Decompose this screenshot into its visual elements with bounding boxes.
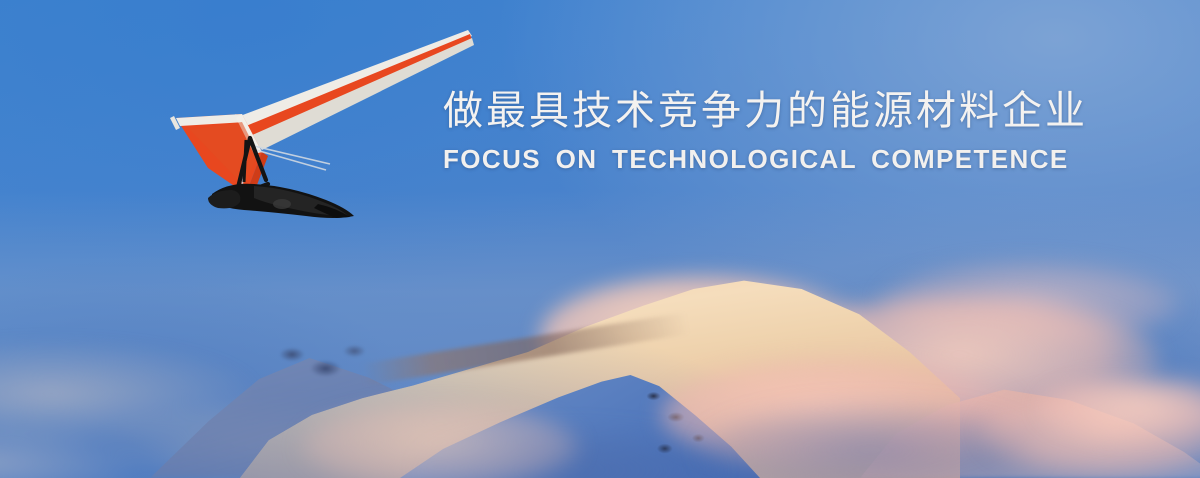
rock-outcrop xyxy=(268,330,388,400)
hang-glider-icon xyxy=(150,18,490,223)
banner-text-block: 做最具技术竞争力的能源材料企业 FOCUS ON TECHNOLOGICAL C… xyxy=(443,88,1193,175)
hero-banner: 做最具技术竞争力的能源材料企业 FOCUS ON TECHNOLOGICAL C… xyxy=(0,0,1200,478)
headline-english: FOCUS ON TECHNOLOGICAL COMPETENCE xyxy=(443,144,1193,175)
headline-chinese: 做最具技术竞争力的能源材料企业 xyxy=(443,88,1193,134)
